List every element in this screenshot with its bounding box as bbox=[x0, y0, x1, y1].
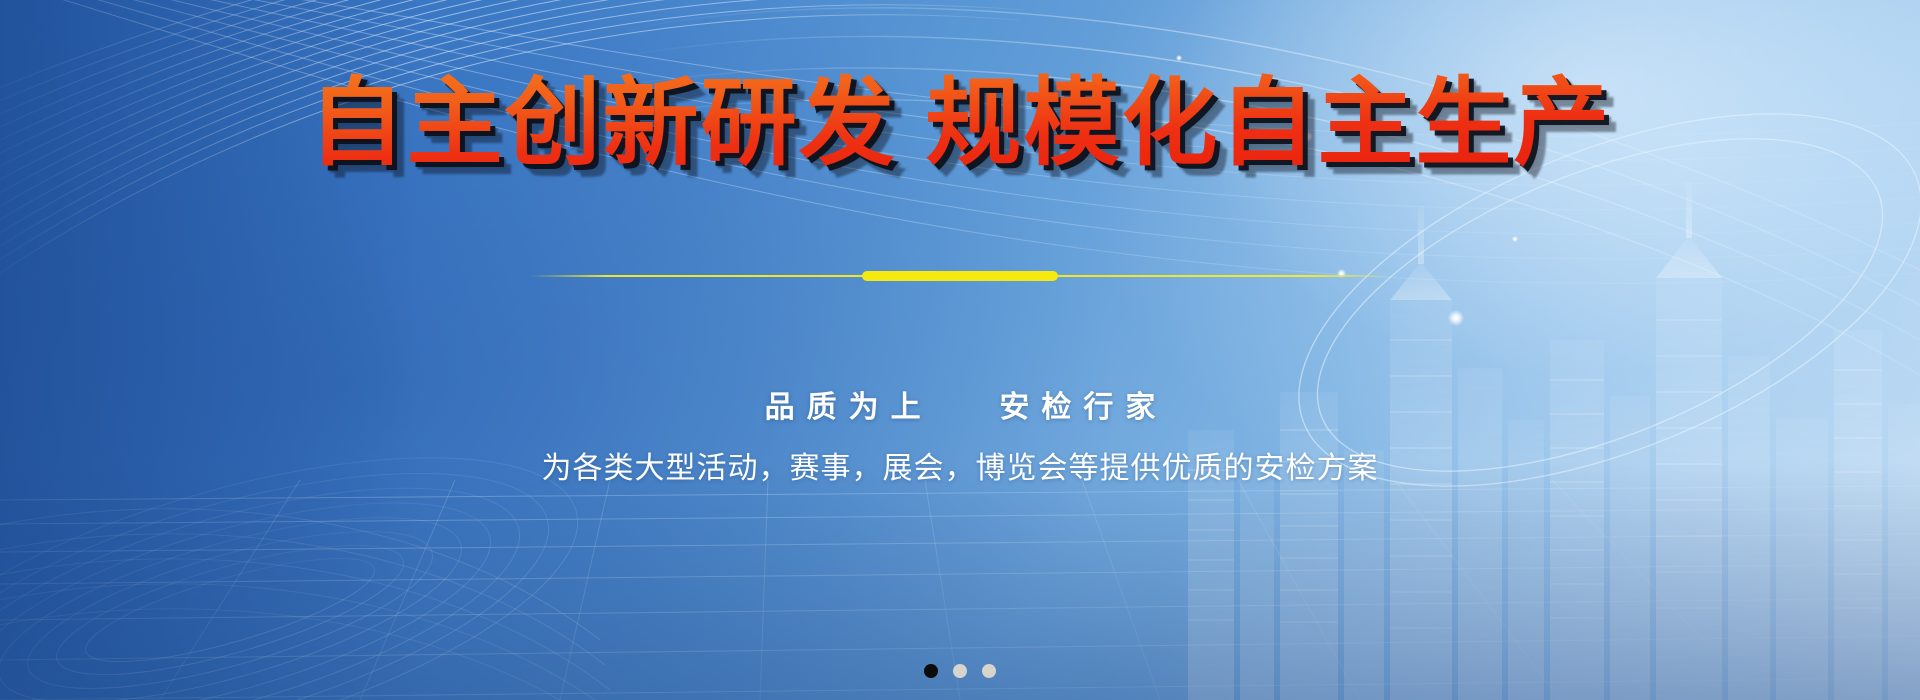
banner-slogan: 品质为上 安检行家 bbox=[0, 382, 1920, 426]
hero-banner: 自主创新研发 规模化自主生产 品质为上 安检行家 为各类大型活动，赛事，展会，博… bbox=[0, 0, 1920, 700]
carousel-dot-3[interactable] bbox=[982, 664, 996, 678]
slogan-right-text: 安检行家 bbox=[999, 391, 1167, 424]
slogan-left-text: 品质为上 bbox=[765, 391, 933, 424]
decorative-divider bbox=[530, 270, 1390, 282]
city-skyline bbox=[1188, 182, 1920, 700]
carousel-dot-1[interactable] bbox=[924, 664, 938, 678]
sparkle-icon bbox=[1512, 236, 1518, 242]
sparkle-icon bbox=[1176, 55, 1182, 61]
divider-thick-segment bbox=[862, 271, 1058, 281]
sparkle-icon bbox=[1448, 310, 1464, 326]
banner-headline: 自主创新研发 规模化自主生产 bbox=[0, 72, 1920, 176]
background-glow bbox=[1140, 0, 1920, 400]
carousel-dots bbox=[924, 664, 996, 678]
banner-description: 为各类大型活动，赛事，展会，博览会等提供优质的安检方案 bbox=[0, 443, 1920, 487]
carousel-dot-2[interactable] bbox=[953, 664, 967, 678]
